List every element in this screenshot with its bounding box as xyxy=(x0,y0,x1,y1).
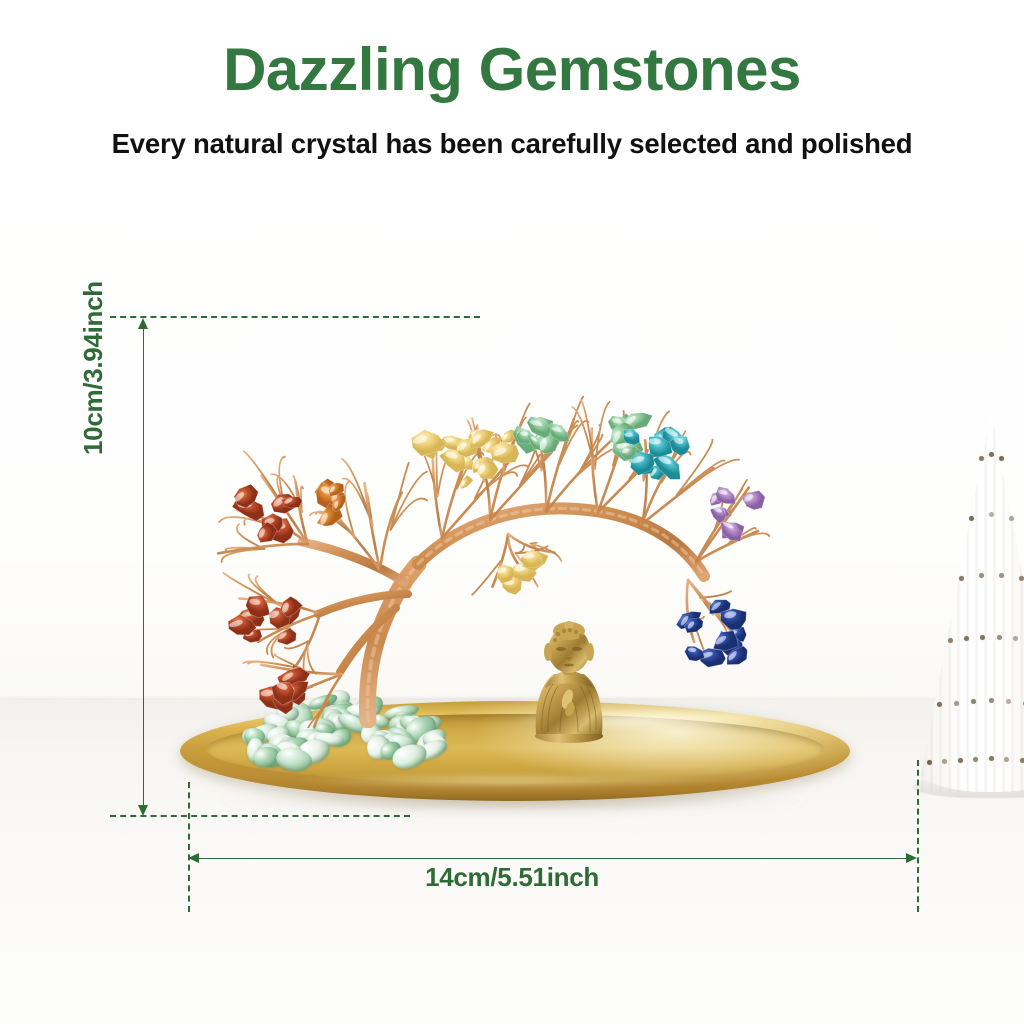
dim-width-line xyxy=(196,858,911,859)
page-title: Dazzling Gemstones xyxy=(0,38,1024,101)
dim-top-guide xyxy=(110,316,480,318)
page-subtitle: Every natural crystal has been carefully… xyxy=(0,128,1024,160)
dim-height-arrow-top xyxy=(138,318,148,329)
dim-width-label: 14cm/5.51inch xyxy=(0,862,1024,893)
dim-bottom-guide xyxy=(110,815,410,817)
dim-height-label: 10cm/3.94inch xyxy=(78,281,109,455)
dim-height-line xyxy=(143,326,144,808)
dim-height-arrow-bottom xyxy=(138,805,148,816)
